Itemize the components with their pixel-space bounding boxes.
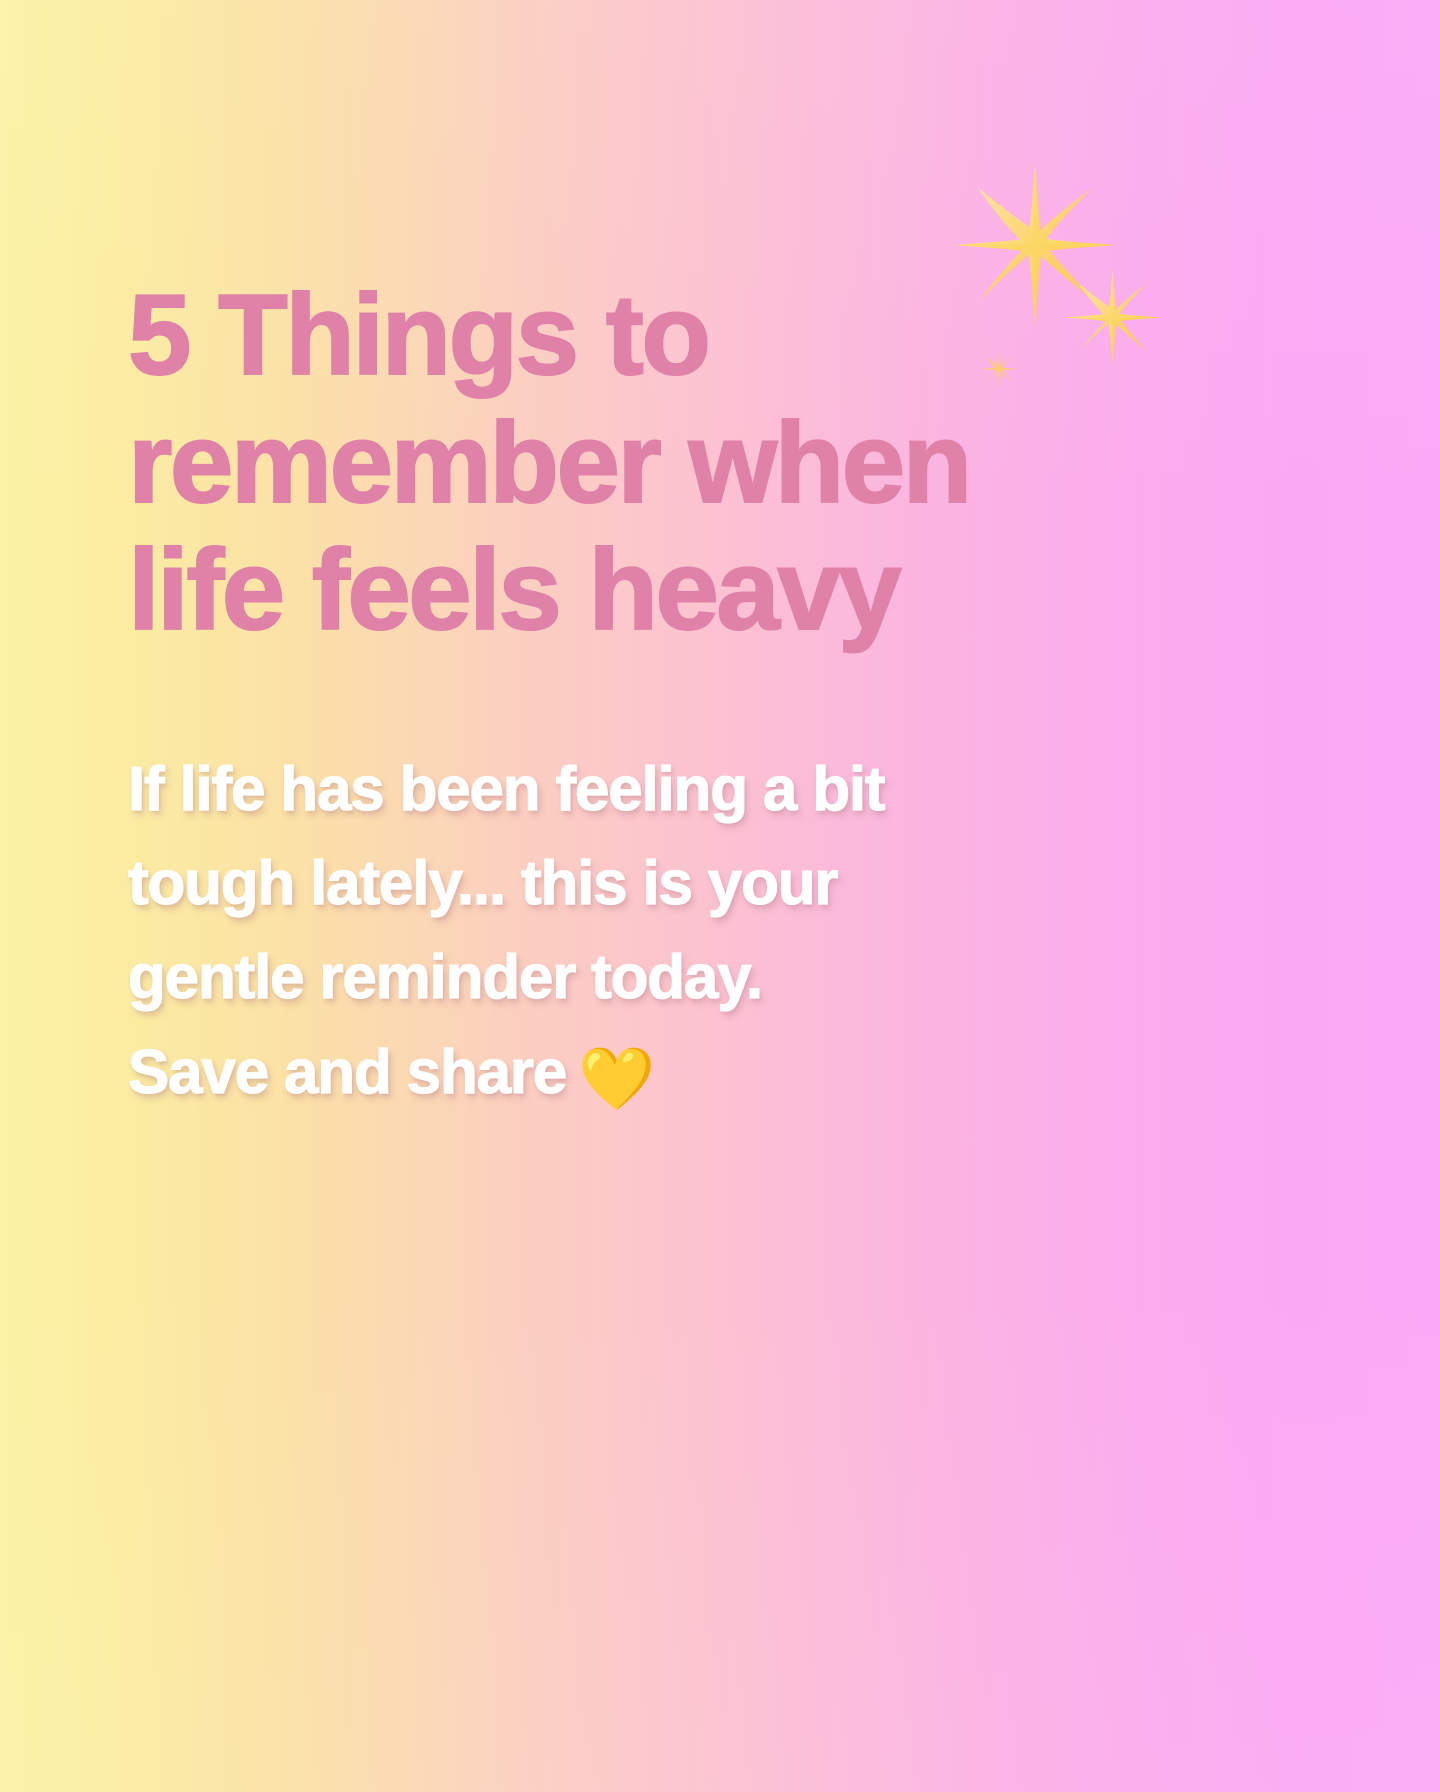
poster-canvas: 5 Things to remember when life feels hea… [0,0,1440,1792]
body-line-3: gentle reminder today. [128,931,1138,1025]
yellow-heart-icon: 💛 [578,1033,654,1127]
headline-line-2: remember when [128,400,1138,528]
headline-line-3: life feels heavy [128,527,1138,655]
body-copy: If life has been feeling a bit tough lat… [128,655,1138,1127]
body-line-4-text: Save and share [128,1038,566,1107]
headline-line-1: 5 Things to [128,272,1138,400]
body-line-4: Save and share💛 [128,1026,1138,1127]
body-line-2: tough lately... this is your [128,837,1138,931]
body-line-1: If life has been feeling a bit [128,743,1138,837]
page-title: 5 Things to remember when life feels hea… [128,272,1138,655]
text-content: 5 Things to remember when life feels hea… [128,272,1138,1127]
